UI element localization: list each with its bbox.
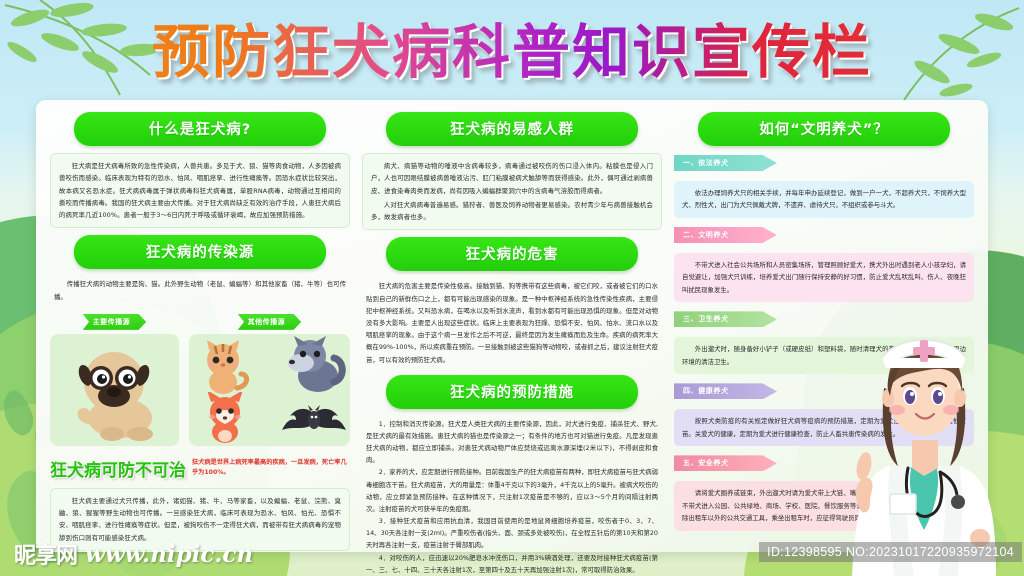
slogan-note: 狂犬病是世界上病死率最高的疾病，一旦发病，死亡率几乎为100%。 bbox=[192, 458, 350, 478]
tag-main-source: 主要传播源 bbox=[83, 314, 147, 330]
paragraph: 不带犬进入社会公共场所和人员密集场所，管理照顾好爱犬，携犬外出时遇到老人小孩孕妇… bbox=[682, 259, 966, 296]
nurse-illustration bbox=[828, 316, 1018, 576]
watermark: 昵享网 www.nipic.cn bbox=[14, 538, 253, 570]
paragraph: 狂犬病是狂犬病毒所致的急性传染病，人兽共患。多见于犬、狼、猫等肉食动物，人多因被… bbox=[59, 160, 341, 221]
paragraph: 依法办理饲养犬只的相关手续，并每年申办延续登记，做到一户一犬，不超养犬只，不饲养… bbox=[682, 187, 966, 212]
paragraph: 传播狂犬病的动物主要是狗、猫。此外野生动物（老鼠、蝙蝠等）和其他家畜（猪、牛等）… bbox=[54, 278, 346, 302]
text-harms: 狂犬病的危害主要是传染性极高。接触到猫、狗等携带有这些病毒，被它们咬，或者被它们… bbox=[362, 278, 662, 367]
tag-item-5: 五、安全养犬 bbox=[674, 455, 777, 471]
slogan-main: 狂犬病可防不可治 bbox=[50, 456, 186, 481]
watermark-badge: 昵享网 bbox=[14, 538, 77, 570]
paragraph: 狂犬病主要通过犬只传播，此外，诸如猫、猪、牛、马等家畜，以及蝙蝠、老鼠、浣熊、臭… bbox=[59, 495, 341, 544]
text-what-is-rabies: 狂犬病是狂犬病毒所致的急性传染病，人兽共患。多见于犬、狼、猫等肉食动物，人多因被… bbox=[50, 153, 350, 228]
paragraph: 2．家养的犬，应定期进行预防接种。目前我国生产的狂犬病疫苗有两种，即狂犬病疫苗与… bbox=[366, 466, 658, 515]
main-source-illustration bbox=[50, 334, 179, 446]
heading-what-is-rabies: 什么是狂犬病? bbox=[74, 112, 326, 146]
heading-susceptible-groups: 狂犬病的易感人群 bbox=[386, 112, 638, 146]
bat-icon bbox=[280, 404, 348, 440]
text-prevention-measures: 1．控制和消灭传染源。狂犬是人类狂犬病的主要传染源，因此，对犬进行免疫、捕杀狂犬… bbox=[362, 416, 662, 576]
paragraph: 1．控制和消灭传染源。狂犬是人类狂犬病的主要传染源，因此，对犬进行免疫、捕杀狂犬… bbox=[366, 418, 658, 467]
other-source-group: 其他传播源 bbox=[189, 314, 350, 446]
heading-infection-source: 狂犬病的传染源 bbox=[74, 235, 326, 269]
left-column: 什么是狂犬病? 狂犬病是狂犬病毒所致的急性传染病，人兽共患。多见于犬、狼、猫等肉… bbox=[50, 112, 350, 540]
tag-other-source: 其他传播源 bbox=[238, 314, 302, 330]
page-title: 预防狂犬病科普知识宣传栏 bbox=[0, 22, 1024, 82]
text-infection-source-intro: 传播狂犬病的动物主要是狗、猫。此外野生动物（老鼠、蝙蝠等）和其他家畜（猪、牛等）… bbox=[50, 276, 350, 304]
tag-item-2: 二、文明养犬 bbox=[674, 227, 777, 243]
middle-column: 狂犬病的易感人群 病犬、病猫等动物的唾液中含病毒较多，病毒通过被咬伤的伤口浸入体… bbox=[362, 112, 662, 540]
fox-icon bbox=[199, 392, 253, 444]
tag-item-1: 一、依法养犬 bbox=[674, 155, 777, 171]
paragraph: 4．对咬伤的人，应迅速以20%肥皂水冲洗伤口，并用3%碘酒处理，还要及时接种狂犬… bbox=[366, 552, 658, 576]
heading-civilized-dog-raising: 如何“文明养犬”？ bbox=[698, 112, 950, 146]
box-item-1: 依法办理饲养犬只的相关手续，并每年申办延续登记，做到一户一犬，不超养犬只，不饲养… bbox=[674, 181, 974, 218]
poster-root: 预防狂犬病科普知识宣传栏 什么是狂犬病? 狂犬病是狂犬病毒所致的急性传染病，人兽… bbox=[0, 0, 1024, 576]
heading-harms: 狂犬病的危害 bbox=[386, 237, 638, 271]
text-susceptible-groups: 病犬、病猫等动物的唾液中含病毒较多，病毒通过被咬伤的伤口浸入体内。粘膜也是侵入门… bbox=[362, 153, 662, 230]
paragraph: 病犬、病猫等动物的唾液中含病毒较多，病毒通过被咬伤的伤口浸入体内。粘膜也是侵入门… bbox=[371, 160, 653, 197]
other-source-illustration bbox=[189, 334, 350, 446]
paragraph: 人对狂犬病病毒普遍易感。猎狩者、兽医及饲养动物者更易感染。农村青少年与病兽接触机… bbox=[371, 199, 653, 224]
wolf-icon bbox=[284, 336, 346, 394]
paragraph: 狂犬病的危害主要是传染性极高。接触到猫、狗等携带有这些病毒，被它们咬，或者被它们… bbox=[366, 280, 658, 365]
dog-icon bbox=[62, 342, 166, 442]
tag-item-4: 四、健康养犬 bbox=[674, 383, 777, 399]
main-source-group: 主要传播源 bbox=[50, 314, 179, 446]
box-item-2: 不带犬进入社会公共场所和人员密集场所，管理照顾好爱犬，携犬外出时遇到老人小孩孕妇… bbox=[674, 253, 974, 302]
image-id-bar: ID:12398595 NO:20231017220935972104 bbox=[759, 542, 1022, 562]
cat-icon bbox=[195, 340, 253, 396]
watermark-url: www.nipic.cn bbox=[85, 541, 253, 568]
paragraph: 3．接种狂犬疫苗和应用抗血清，我国目前使用的是地鼠肾细胞培养疫苗，咬伤者于0、3… bbox=[366, 515, 658, 552]
slogan-block: 狂犬病可防不可治 狂犬病是世界上病死率最高的疾病，一旦发病，死亡率几乎为100%… bbox=[50, 456, 350, 481]
source-animals-row: 主要传播源 bbox=[50, 314, 350, 446]
heading-prevention: 狂犬病的预防措施 bbox=[386, 375, 638, 409]
tag-item-3: 三、卫生养犬 bbox=[674, 311, 777, 327]
